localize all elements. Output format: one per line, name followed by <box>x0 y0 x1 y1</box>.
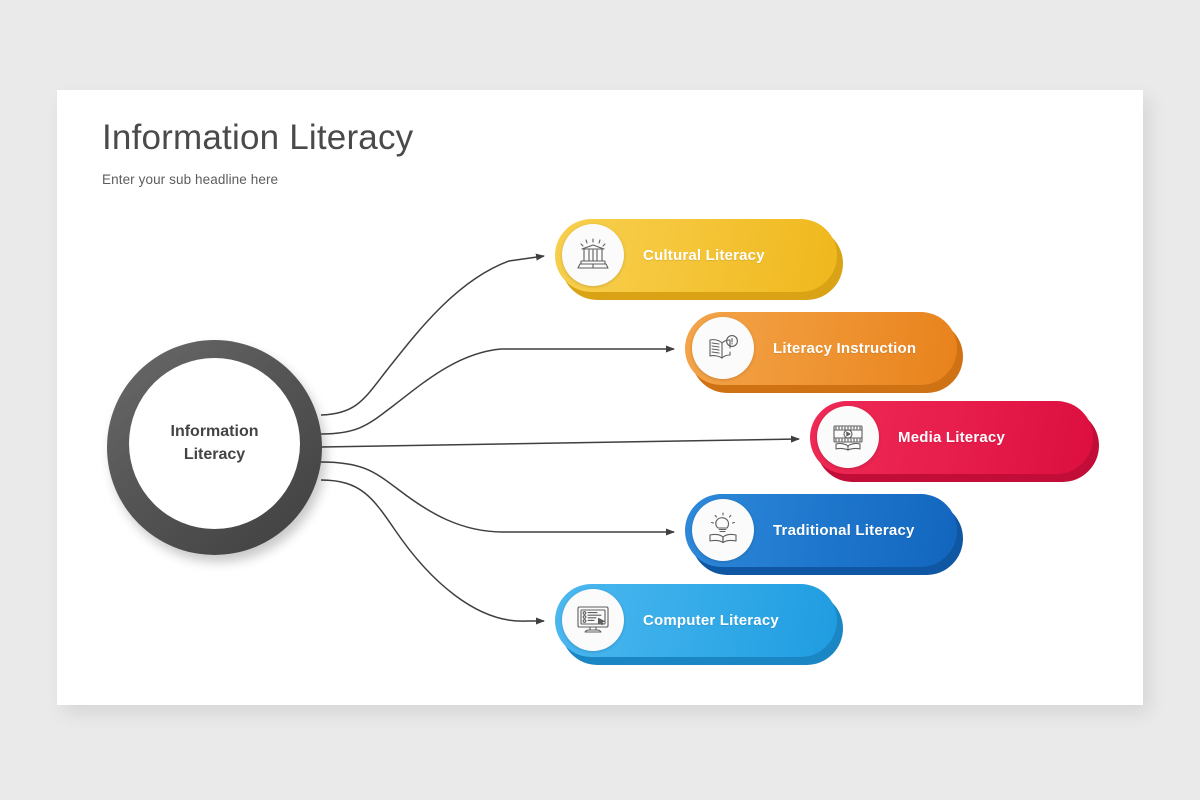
pill-label: Media Literacy <box>898 429 1005 446</box>
pill-label: Traditional Literacy <box>773 522 915 539</box>
open-book-idea-icon <box>692 317 754 379</box>
hub-label: Information Literacy <box>171 421 259 466</box>
connector-media <box>321 439 799 447</box>
pill-body: Media Literacy <box>810 401 1093 474</box>
connector-computer <box>321 480 544 621</box>
pill-label: Literacy Instruction <box>773 340 916 357</box>
pill-label: Computer Literacy <box>643 612 779 629</box>
connector-traditional <box>321 462 674 532</box>
infographic-diagram: Information Literacy Cultural Literac <box>57 90 1143 705</box>
pill-body: Computer Literacy <box>555 584 837 657</box>
connector-cultural <box>321 256 544 415</box>
hub-node[interactable]: Information Literacy <box>107 340 322 555</box>
film-strip-play-icon <box>817 406 879 468</box>
pill-body: Traditional Literacy <box>685 494 957 567</box>
connector-instruction <box>321 349 674 434</box>
branch-pill-traditional[interactable]: Traditional Literacy <box>685 494 957 567</box>
branch-pill-media[interactable]: Media Literacy <box>810 401 1093 474</box>
pill-label: Cultural Literacy <box>643 247 765 264</box>
pill-body: Literacy Instruction <box>685 312 957 385</box>
hub-inner: Information Literacy <box>129 358 300 529</box>
branch-pill-computer[interactable]: Computer Literacy <box>555 584 837 657</box>
branch-pill-instruction[interactable]: Literacy Instruction <box>685 312 957 385</box>
monitor-icon <box>562 589 624 651</box>
branch-pill-cultural[interactable]: Cultural Literacy <box>555 219 837 292</box>
lightbulb-book-icon <box>692 499 754 561</box>
slide-card: Information Literacy Enter your sub head… <box>57 90 1143 705</box>
pill-body: Cultural Literacy <box>555 219 837 292</box>
classical-temple-icon <box>562 224 624 286</box>
